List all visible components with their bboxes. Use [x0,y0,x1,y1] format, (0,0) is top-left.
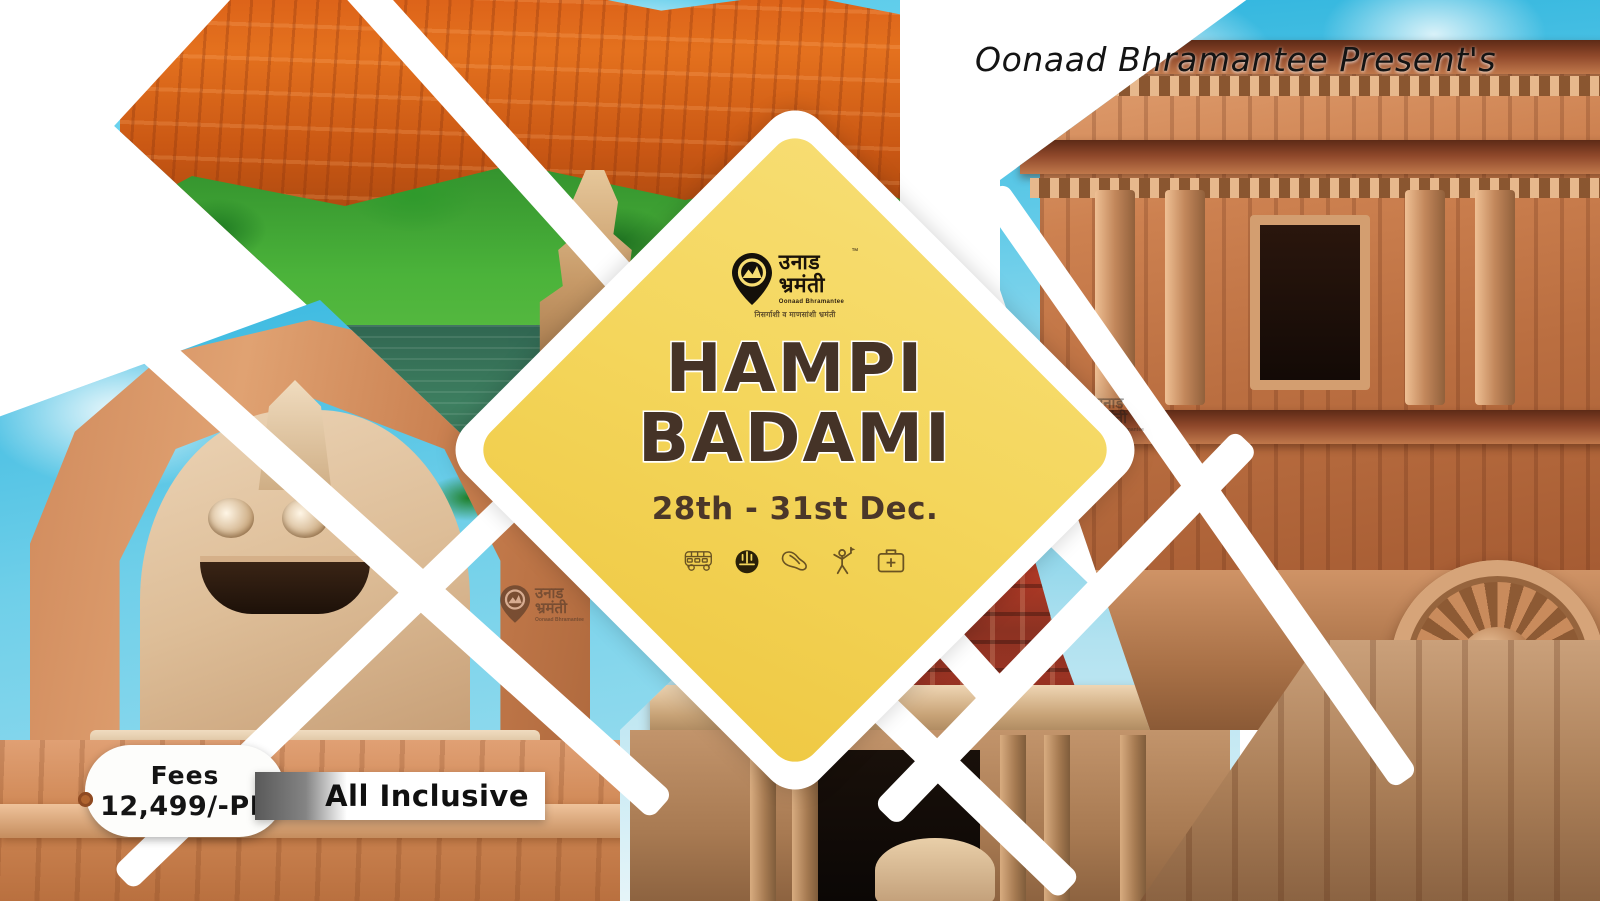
guide-icon [828,545,858,575]
brand-logo: उनाड भ्रमंती Oonaad Bhramantee ™ [732,252,858,305]
stone-nandi-pedestal [875,838,995,901]
logo-brand-english: Oonaad Bhramantee [779,299,844,305]
fees-label: Fees [151,761,220,790]
tour-title: HAMPI BADAMI [638,336,952,471]
statue-mouth [200,562,370,614]
title-line-badami: BADAMI [638,406,952,470]
all-inclusive-label: All Inclusive [325,779,529,813]
location-pin-icon [732,253,772,305]
tour-dates: 28th - 31st Dec. [652,491,939,527]
bedding-icon [780,545,810,575]
chariot-pillar [1475,190,1515,405]
chariot-dentil-band [1030,76,1600,96]
travel-tour-poster: Oonaad Bhramantee Present's उनाड भ्रमंती… [0,0,1600,901]
logo-line-1: उनाड [779,252,820,273]
hall-pillar [1120,735,1146,901]
chariot-pillar [1165,190,1205,405]
amenities-row [684,545,906,575]
trademark-symbol: ™ [851,248,858,255]
all-inclusive-badge: All Inclusive [255,772,545,820]
chariot-cornice [1020,140,1600,174]
logo-line-2: भ्रमंती [779,275,825,296]
statue-eye-left [208,498,254,538]
central-diamond-badge: उनाड भ्रमंती Oonaad Bhramantee ™ निसर्गा… [545,200,1045,700]
presenter-headline: Oonaad Bhramantee Present's [975,40,1496,79]
chariot-central-niche [1250,215,1370,390]
fees-amount: 12,499/-PP [100,791,270,822]
title-line-hampi: HAMPI [638,336,952,400]
bus-icon [684,545,714,575]
chariot-pillar [1405,190,1445,405]
food-icon [732,545,762,575]
tag-grommet-icon [78,792,93,807]
first-aid-icon [876,545,906,575]
brand-tagline: निसर्गाशी व माणसांशी भ्रमंती [754,310,835,320]
